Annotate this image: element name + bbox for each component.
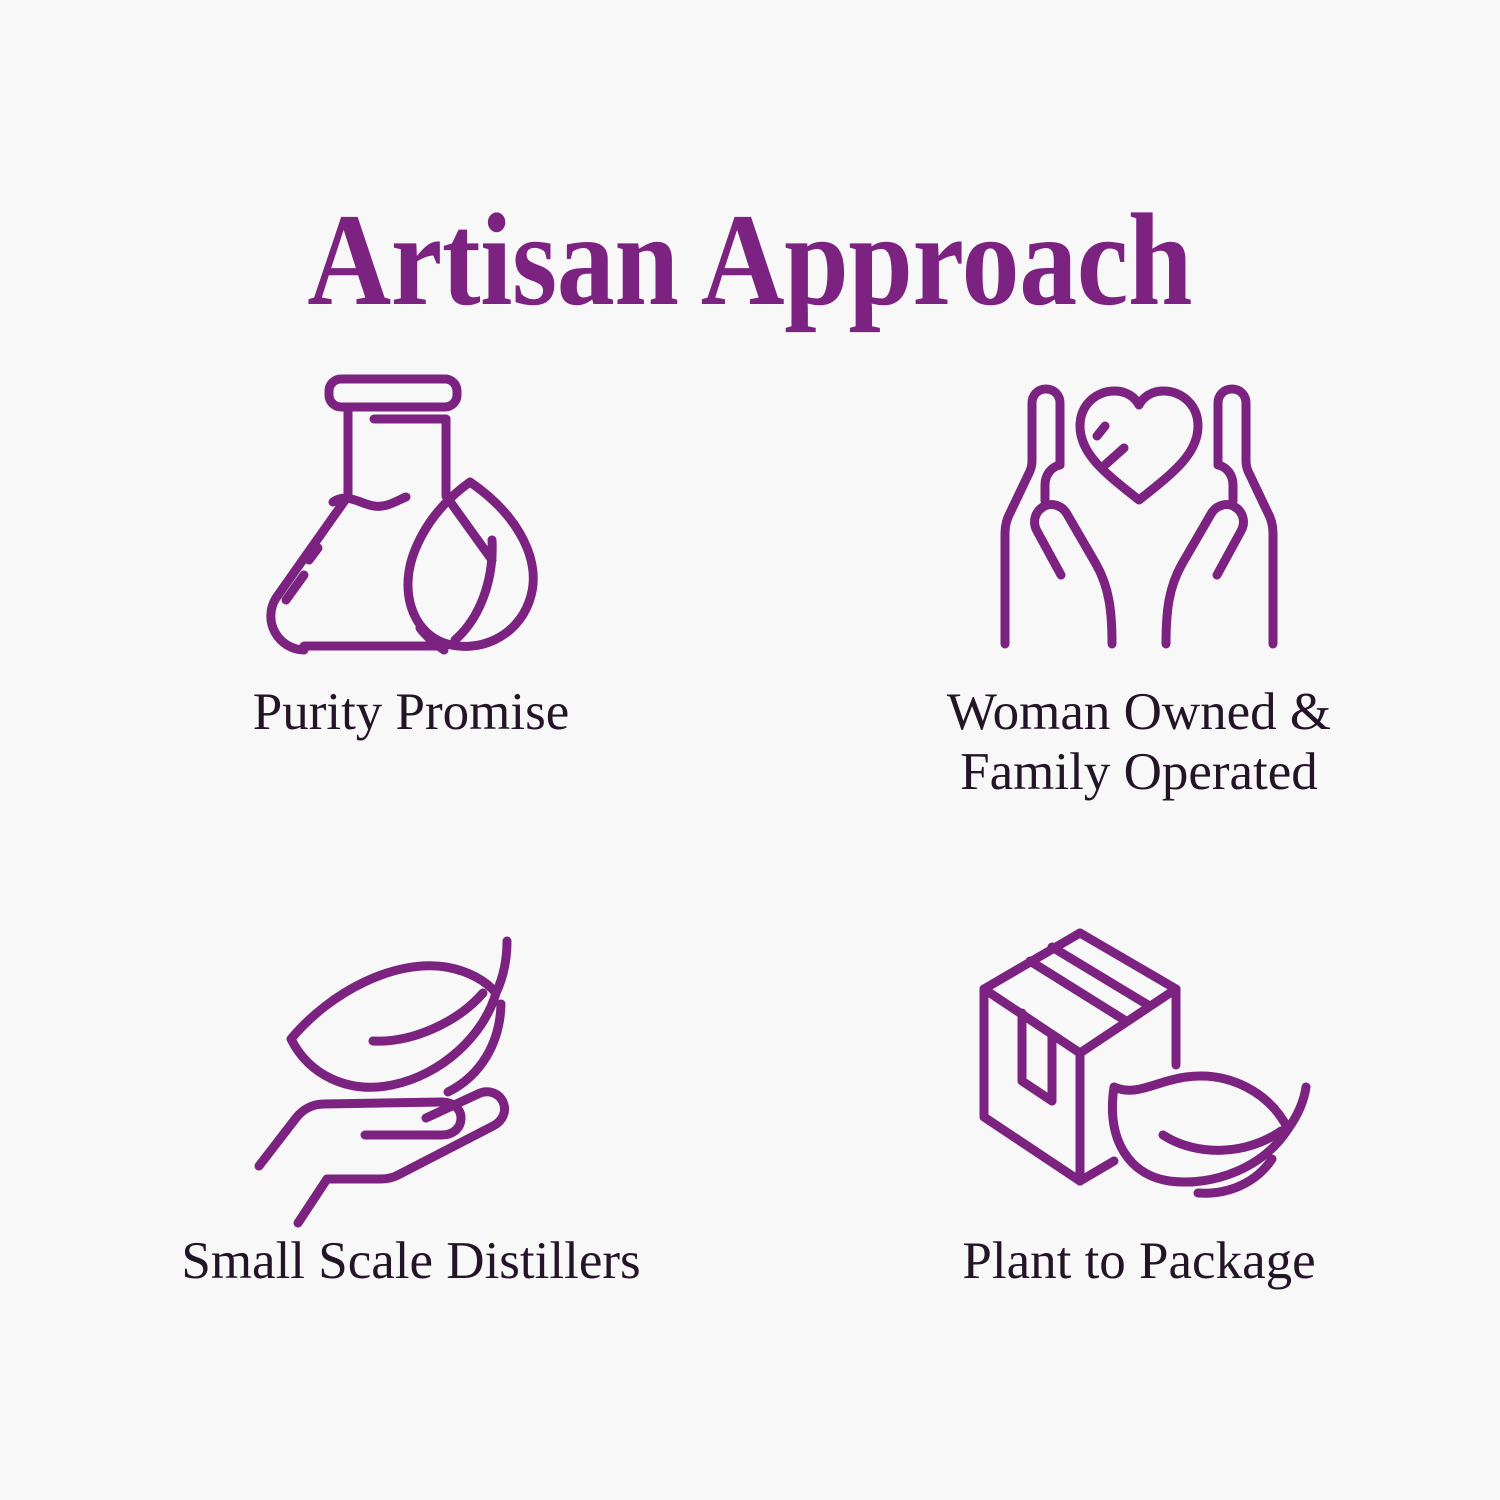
feature-item-woman-owned: Woman Owned & Family Operated — [750, 355, 1440, 865]
feature-item-purity-promise: Purity Promise — [60, 355, 750, 865]
flask-leaf-icon — [246, 355, 576, 650]
feature-grid: Purity Promise — [60, 355, 1440, 1375]
feature-item-small-scale-distillers: Small Scale Distillers — [60, 865, 750, 1375]
feature-label-purity-promise: Purity Promise — [253, 682, 570, 742]
leaf-in-hand-icon — [246, 923, 576, 1193]
hands-heart-icon — [974, 355, 1304, 650]
feature-label-small-scale-distillers: Small Scale Distillers — [181, 1231, 640, 1291]
feature-label-woman-owned: Woman Owned & Family Operated — [947, 682, 1331, 803]
feature-label-plant-to-package: Plant to Package — [962, 1231, 1315, 1291]
box-leaf-icon — [974, 923, 1304, 1193]
page-title: Artisan Approach — [308, 194, 1193, 326]
feature-item-plant-to-package: Plant to Package — [750, 865, 1440, 1375]
artisan-approach-panel: Artisan Approach — [0, 0, 1500, 1500]
